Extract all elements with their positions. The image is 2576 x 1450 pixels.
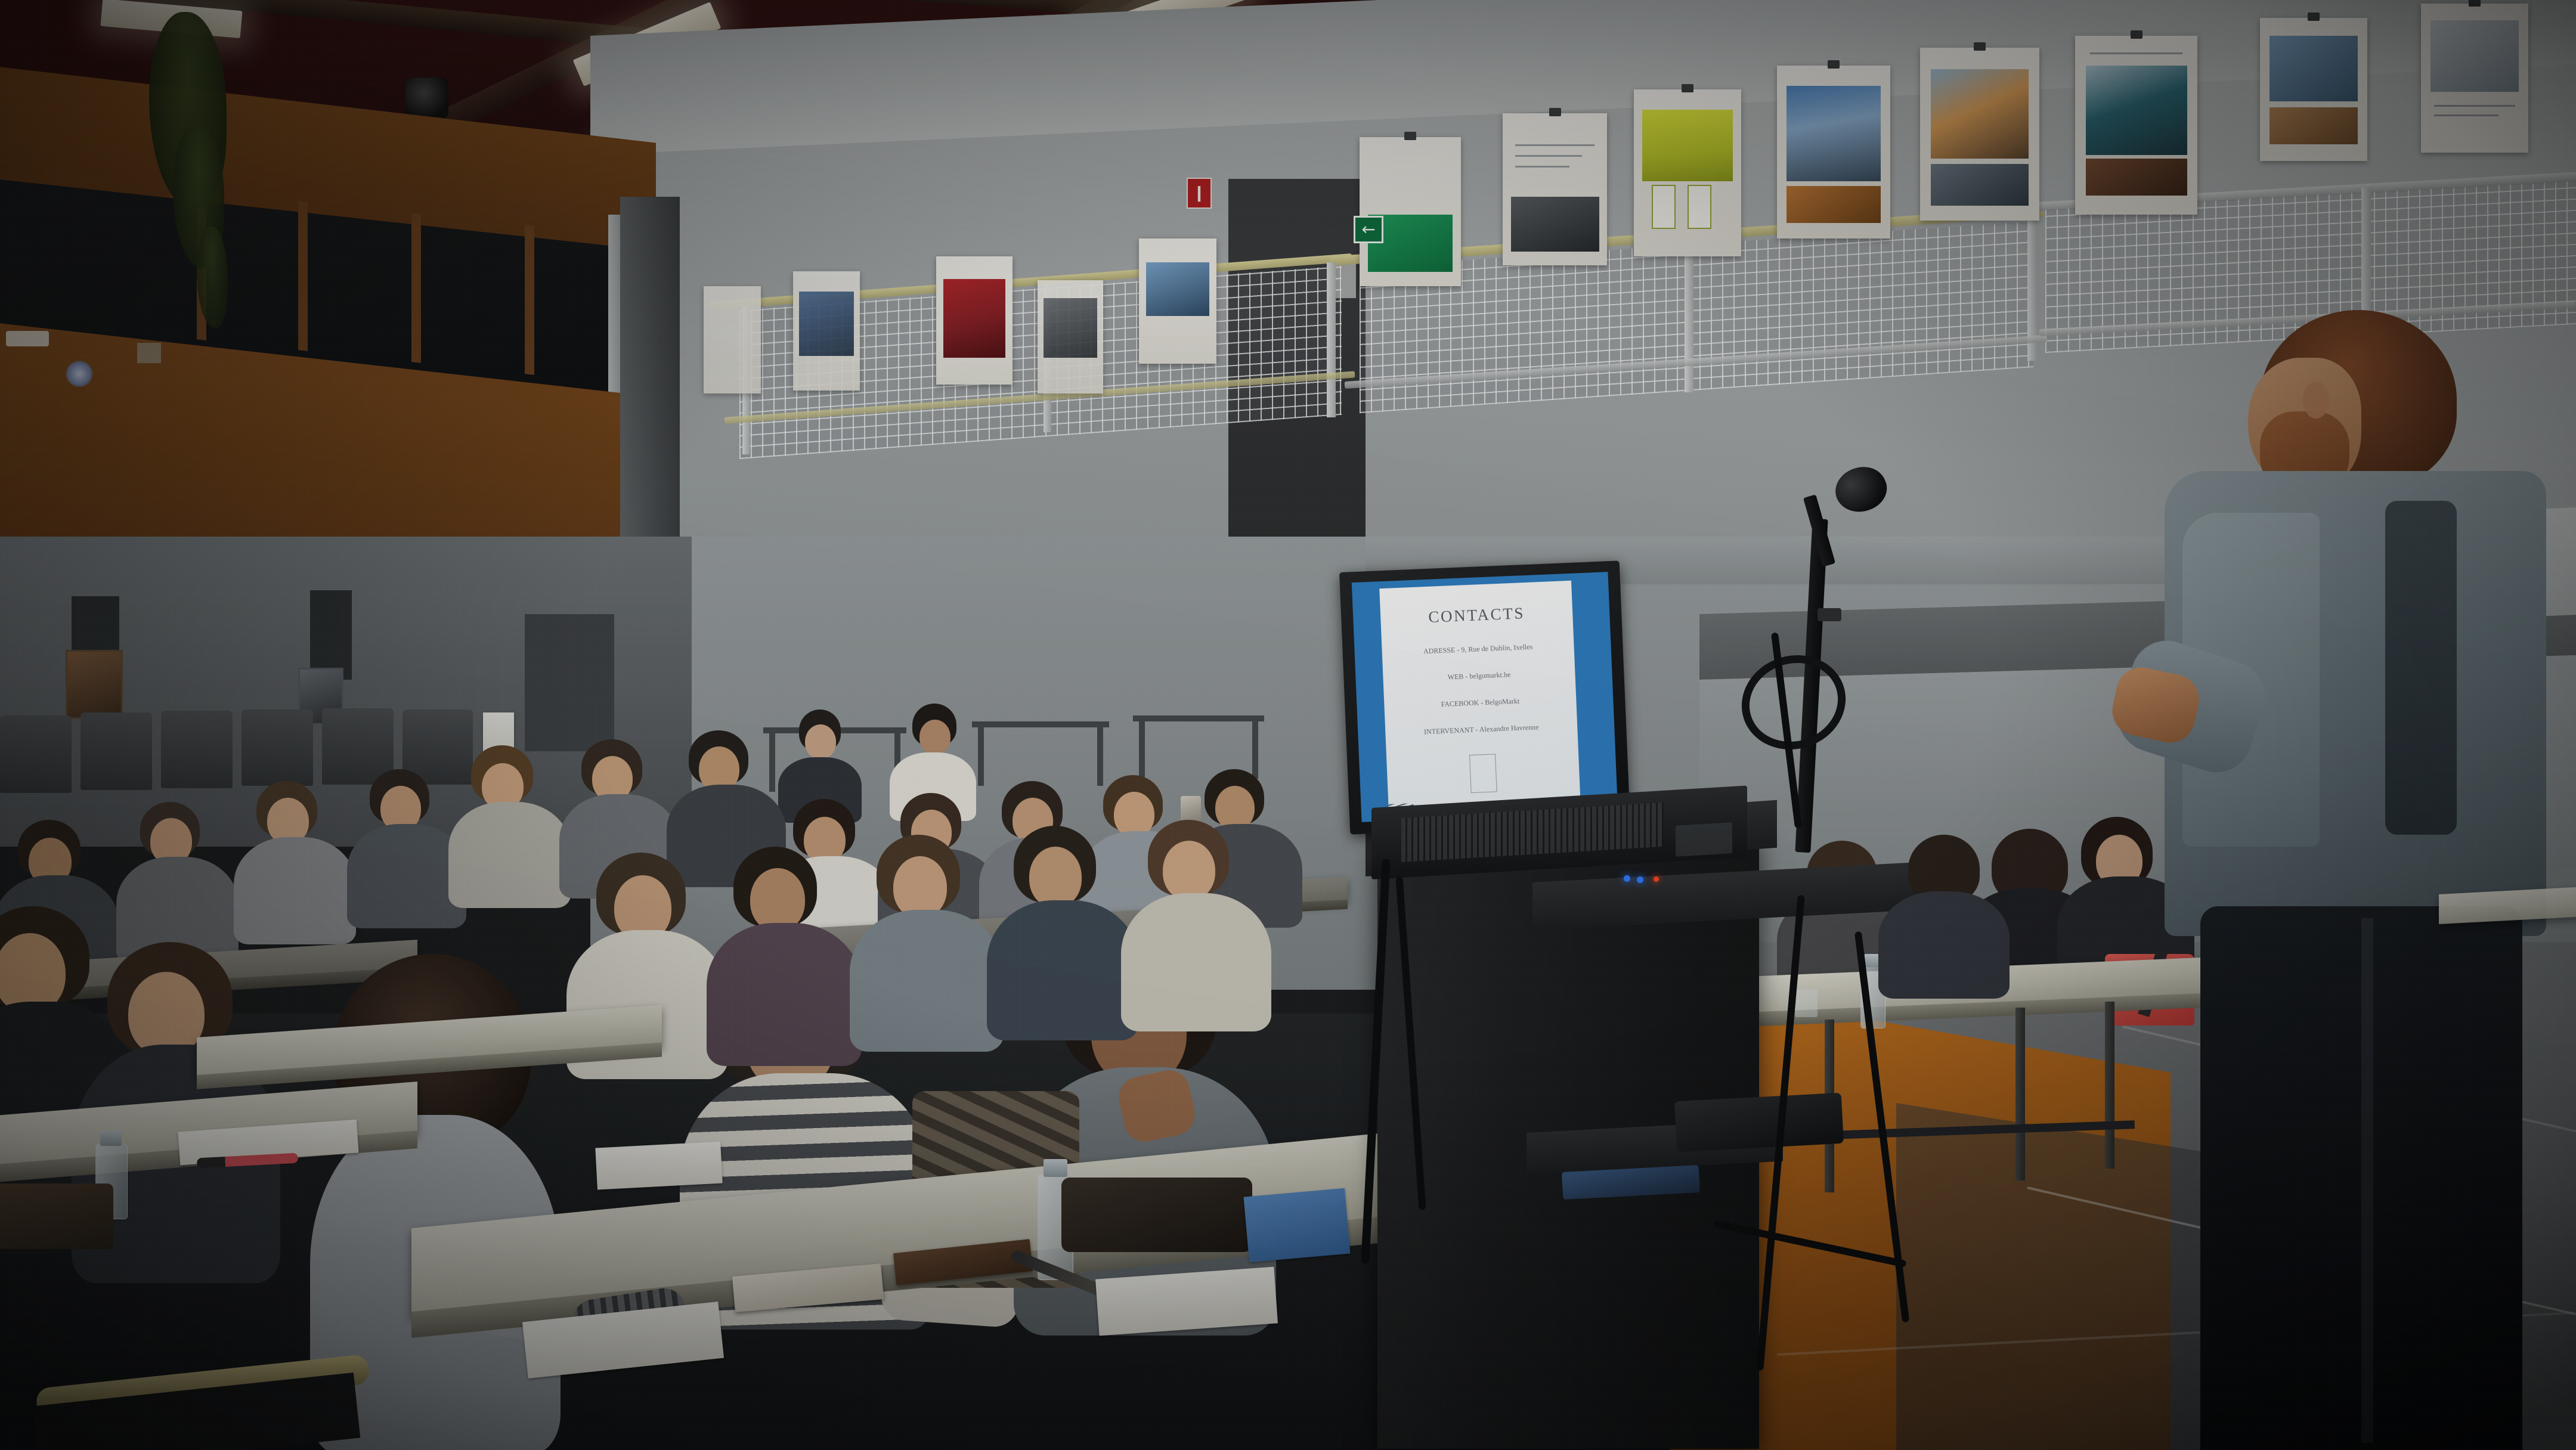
student-body-white — [1121, 893, 1271, 1031]
poster-clip — [1404, 132, 1416, 140]
poster-image — [799, 292, 854, 356]
poster-clip — [2308, 13, 2320, 21]
poster-text-line — [2434, 105, 2516, 107]
shelf-object-grey — [137, 343, 161, 363]
poster — [2421, 4, 2528, 153]
av-receiver-box — [1674, 1093, 1844, 1152]
barrier-post — [1252, 720, 1258, 779]
poster — [2075, 36, 2197, 215]
poster-image — [1511, 197, 1599, 252]
poster-window — [1688, 185, 1711, 229]
desk-leg — [2105, 1002, 2114, 1169]
poster-image — [2431, 20, 2519, 92]
fire-sign-glyph: ❙ — [1193, 185, 1206, 201]
paper-sheet — [595, 1142, 722, 1190]
poster-image — [2270, 107, 2358, 144]
poster-image — [1931, 164, 2029, 206]
barrier-rail — [972, 721, 1109, 727]
empty-chair — [241, 709, 313, 786]
bag-on-desk — [1061, 1178, 1252, 1252]
student-body — [987, 900, 1139, 1040]
poster — [2260, 18, 2367, 161]
poster-image — [1931, 69, 2029, 159]
slide-line-web: WEB - belgomarkt.be — [1383, 668, 1575, 684]
poster-text-line — [1515, 155, 1582, 157]
slide-logo — [1469, 754, 1497, 793]
poster — [1634, 89, 1741, 256]
slide-title: CONTACTS — [1380, 602, 1573, 628]
wall-dark-niche — [310, 590, 352, 680]
poster-window — [1652, 185, 1676, 229]
poster-clip — [1974, 42, 1986, 51]
student-head — [1215, 786, 1255, 830]
poster-text-line — [1515, 144, 1594, 146]
student-head — [128, 972, 205, 1056]
student-head — [805, 724, 836, 759]
presentation-slide: CONTACTS ADRESSE - 9, Rue de Dublin, Ixe… — [1379, 581, 1581, 814]
student-head — [893, 856, 947, 918]
barrier-rail — [1133, 715, 1264, 721]
rail-post — [1327, 262, 1336, 417]
lecture-hall-photo: ❙ ← ❙ — [0, 0, 2576, 1450]
laptop-screen: CONTACTS ADRESSE - 9, Rue de Dublin, Ixe… — [1352, 572, 1618, 822]
poster-clip — [1828, 60, 1840, 69]
slide-line-speaker: INTERVENANT - Alexandre Havrenne — [1385, 721, 1577, 738]
poster — [1139, 238, 1216, 364]
blue-folder — [1244, 1188, 1351, 1262]
ceiling-spotlight — [405, 78, 448, 119]
poster-image — [1787, 186, 1881, 223]
window-mullion — [298, 201, 308, 351]
fire-extinguisher-sign: ❙ — [1187, 178, 1212, 209]
poster-image — [1044, 298, 1097, 358]
poster-clip — [2469, 0, 2481, 7]
poster-image — [2270, 36, 2358, 101]
student-body — [234, 837, 356, 944]
blue-indicator-light — [66, 361, 93, 387]
wall-picture-frame — [66, 650, 123, 719]
student-body — [1878, 891, 2010, 999]
poster-image-red — [943, 279, 1005, 358]
barrier-post — [1139, 720, 1145, 779]
poster — [1920, 48, 2039, 221]
poster — [1360, 137, 1461, 286]
barrier-post — [1097, 726, 1103, 786]
empty-chair — [0, 715, 72, 793]
laptop-trackpad — [1676, 822, 1732, 857]
barrier-post — [978, 726, 984, 786]
laptop-led-power — [1624, 875, 1630, 882]
emergency-exit-sign: ← — [1354, 216, 1383, 243]
trouser-crease — [2361, 918, 2373, 1443]
poster-image — [1146, 262, 1209, 316]
exit-sign-glyph: ← — [1361, 221, 1375, 238]
poster-clip — [1682, 84, 1693, 92]
poster-clip — [2131, 30, 2142, 39]
desk-leg — [2015, 1008, 2025, 1181]
poster-image-yellow — [1642, 110, 1733, 181]
student-head — [1114, 792, 1154, 837]
plastic-cup — [1795, 990, 1818, 1017]
pencil-case — [0, 1183, 113, 1249]
poster-clip — [1549, 108, 1561, 116]
mic-clamp — [1818, 608, 1841, 621]
poster-image-tram — [2086, 66, 2187, 155]
empty-chair — [161, 711, 233, 788]
poster — [1777, 66, 1890, 238]
slide-line-facebook: FACEBOOK - BelgoMarkt — [1384, 695, 1576, 711]
poster — [704, 286, 761, 394]
rail-post — [1685, 237, 1693, 392]
poster — [936, 256, 1013, 385]
presenter-ear — [2303, 382, 2329, 419]
shelf-object-white — [6, 331, 49, 346]
doorway-dark — [525, 614, 614, 751]
poster — [1503, 113, 1607, 265]
poster-text-line — [2434, 114, 2498, 116]
bottle-cap — [1044, 1159, 1067, 1177]
student-head — [1163, 841, 1215, 900]
student-head — [750, 868, 805, 931]
student-body — [448, 802, 571, 908]
presenter-shirt-shadow-side — [2385, 501, 2457, 835]
empty-chair — [80, 712, 152, 790]
student-body — [850, 910, 1004, 1052]
student-body — [707, 923, 862, 1066]
poster-image-tower — [1787, 86, 1881, 181]
poster-text-line — [2090, 52, 2183, 54]
slide-line-address: ADRESSE - 9, Rue de Dublin, Ixelles — [1382, 641, 1574, 658]
poster-image — [2086, 159, 2187, 196]
student-head — [1029, 847, 1082, 907]
bottle-cap — [100, 1130, 122, 1146]
poster — [793, 271, 860, 391]
laptop-led-wifi — [1637, 876, 1643, 883]
laptop-led-charge — [1654, 876, 1659, 882]
poster-text-line — [1515, 166, 1569, 168]
student-head — [919, 720, 950, 754]
structural-column — [620, 197, 680, 578]
poster — [1038, 280, 1103, 394]
window-mullion — [525, 225, 534, 375]
barrier-post — [769, 732, 775, 792]
window-mullion — [411, 213, 421, 363]
